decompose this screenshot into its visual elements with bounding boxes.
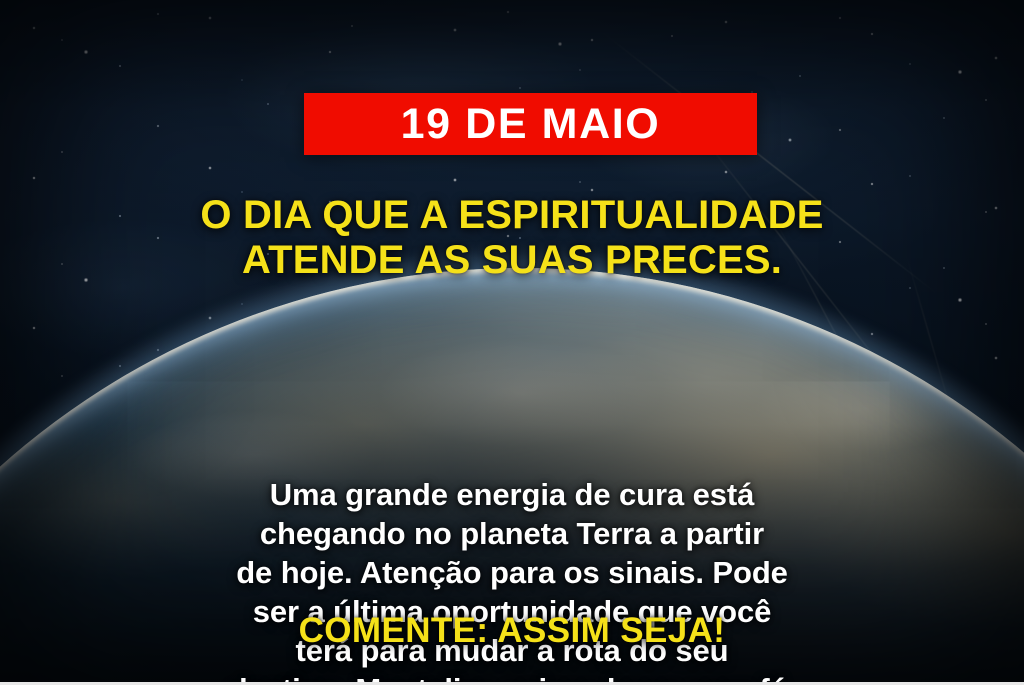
- date-banner: 19 DE MAIO: [304, 93, 757, 155]
- body-line-3: de hoje. Atenção para os sinais. Pode: [47, 553, 977, 592]
- headline-line-1: O DIA QUE A ESPIRITUALIDADE: [32, 193, 992, 238]
- headline: O DIA QUE A ESPIRITUALIDADE ATENDE AS SU…: [32, 193, 992, 283]
- body-line-2: chegando no planeta Terra a partir: [47, 514, 977, 553]
- headline-line-2: ATENDE AS SUAS PRECES.: [32, 238, 992, 283]
- poster-canvas: 19 DE MAIO O DIA QUE A ESPIRITUALIDADE A…: [0, 0, 1024, 685]
- body-line-1: Uma grande energia de cura está: [47, 475, 977, 514]
- poster-content: 19 DE MAIO O DIA QUE A ESPIRITUALIDADE A…: [0, 0, 1024, 685]
- call-to-action-text: COMENTE: ASSIM SEJA!: [299, 611, 726, 651]
- date-banner-text: 19 DE MAIO: [401, 103, 661, 146]
- body-copy: Uma grande energia de cura está chegando…: [47, 475, 977, 685]
